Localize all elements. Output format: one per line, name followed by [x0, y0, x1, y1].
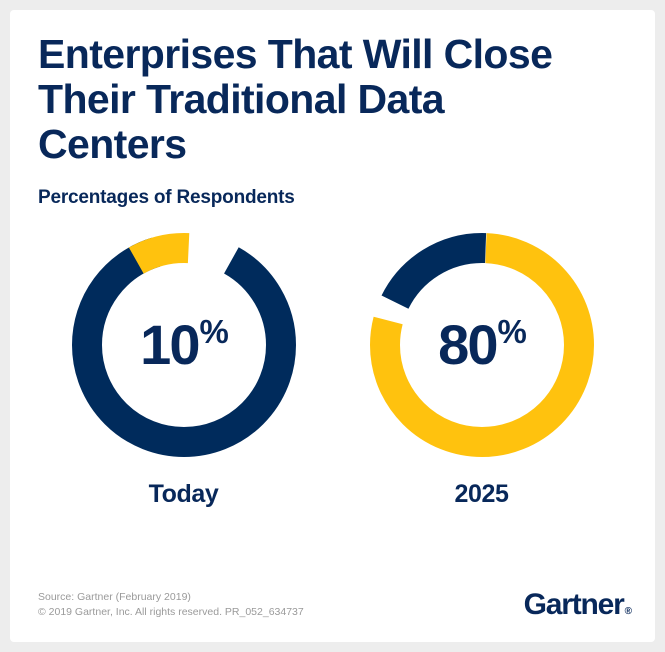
- copyright-line: © 2019 Gartner, Inc. All rights reserved…: [38, 605, 304, 620]
- donut-chart-2025: 80% 2025: [357, 232, 607, 509]
- donut-chart-group: 10% Today 80% 2025: [10, 232, 655, 509]
- infographic-card: Enterprises That Will Close Their Tradit…: [10, 10, 655, 642]
- gartner-logo: Gartner®: [524, 590, 631, 620]
- donut-graphic-2025: 80%: [369, 232, 595, 458]
- source-line: Source: Gartner (February 2019): [38, 590, 304, 605]
- donut-slice-remainder-today: [87, 248, 281, 442]
- donut-caption-2025: 2025: [454, 480, 508, 509]
- donut-chart-today: 10% Today: [59, 232, 309, 509]
- page-subtitle: Percentages of Respondents: [38, 187, 598, 209]
- gartner-logo-text: Gartner: [524, 588, 624, 621]
- page-title: Enterprises That Will Close Their Tradit…: [38, 32, 598, 167]
- registered-trademark-icon: ®: [625, 606, 632, 617]
- footer: Source: Gartner (February 2019) © 2019 G…: [38, 590, 631, 620]
- donut-svg-today: [71, 232, 297, 458]
- header: Enterprises That Will Close Their Tradit…: [38, 32, 598, 209]
- donut-graphic-today: 10%: [71, 232, 297, 458]
- donut-svg-2025: [369, 232, 595, 458]
- source-attribution: Source: Gartner (February 2019) © 2019 G…: [38, 590, 304, 620]
- donut-caption-today: Today: [149, 480, 219, 509]
